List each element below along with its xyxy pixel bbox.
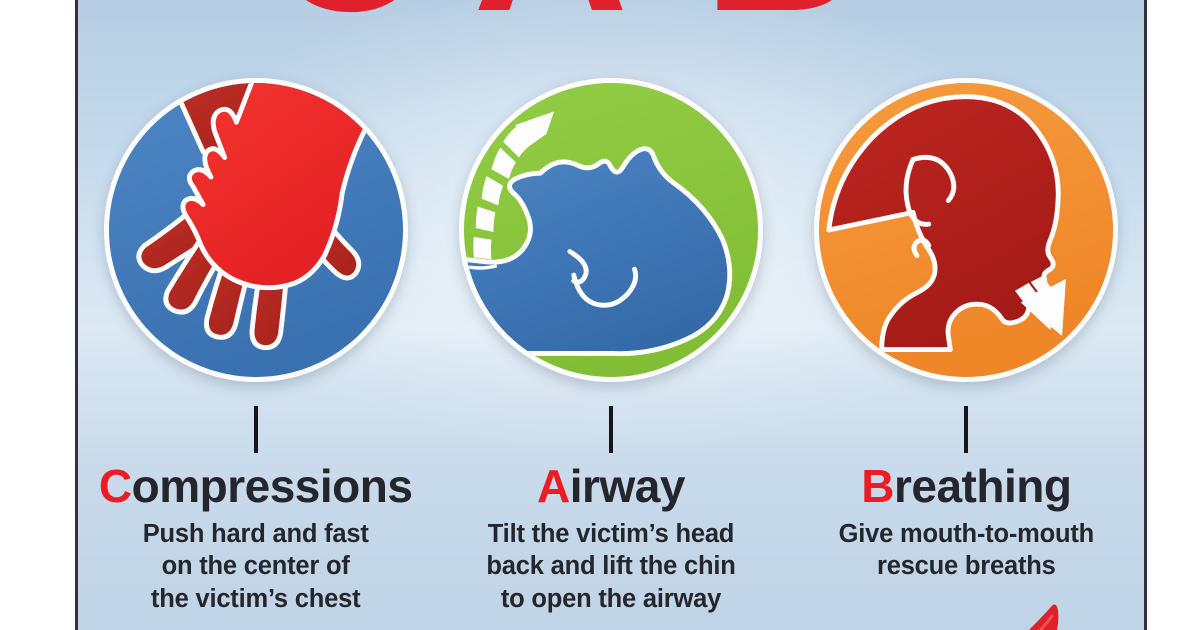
step-compressions-rest: ompressions [132,460,413,512]
step-compressions-heading: Compressions [99,463,413,509]
head-tilt-airway-icon [459,78,763,382]
step-compressions-circle [104,78,408,382]
mouth-to-mouth-breathing-icon [814,78,1118,382]
step-airway-rest: irway [570,460,685,512]
step-airway-cap: A [537,460,570,512]
step-connector-tick [964,406,968,453]
two-hands-chest-compression-icon [104,78,408,382]
cpr-poster: C A B [75,0,1147,630]
step-compressions-description: Push hard and faston the center ofthe vi… [143,518,369,615]
step-airway-description: Tilt the victim’s headback and lift the … [486,518,735,615]
step-breathing-description: Give mouth-to-mouthrescue breaths [839,518,1094,583]
step-breathing-heading: Breathing [861,463,1071,509]
step-breathing: Breathing Give mouth-to-mouthrescue brea… [789,0,1144,630]
step-airway-circle [459,78,763,382]
step-connector-tick [254,406,258,453]
step-compressions-cap: C [99,460,132,512]
step-compressions: Compressions Push hard and faston the ce… [78,0,433,630]
step-airway: Airway Tilt the victim’s headback and li… [433,0,788,630]
step-airway-heading: Airway [537,463,685,509]
steps-row: Compressions Push hard and faston the ce… [78,0,1144,630]
step-breathing-circle [814,78,1118,382]
step-connector-tick [609,406,613,453]
step-breathing-cap: B [861,460,894,512]
step-breathing-rest: reathing [894,460,1071,512]
